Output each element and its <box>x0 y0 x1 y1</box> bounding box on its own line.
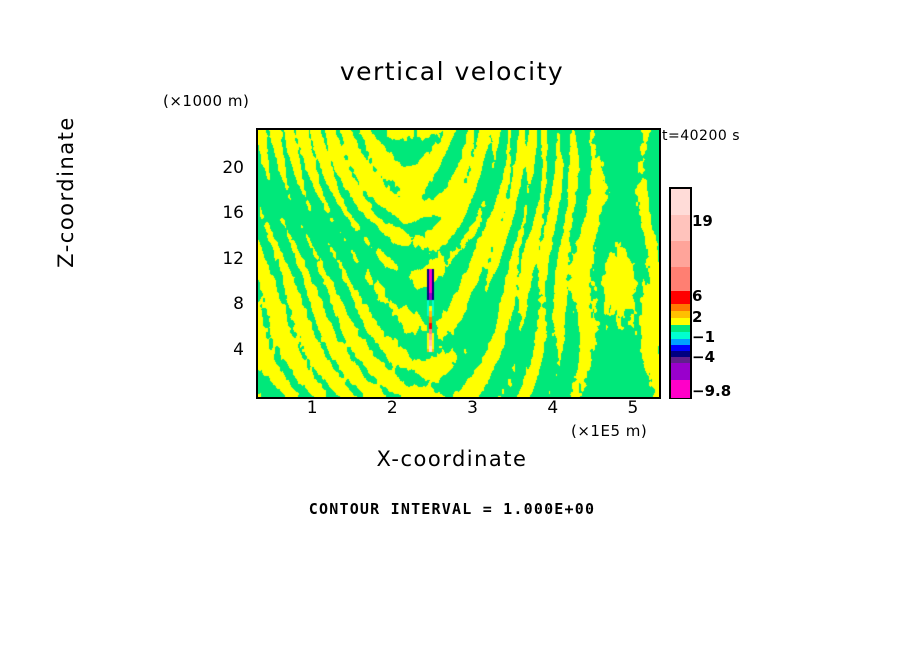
colorbar <box>669 187 692 399</box>
time-annotation: t=40200 s <box>662 128 740 144</box>
y-tick-label: 12 <box>204 249 244 269</box>
contour-plot-area <box>256 128 661 399</box>
y-axis-unit: (×1000 m) <box>163 92 249 110</box>
contour-field <box>258 130 659 397</box>
y-tick-label: 4 <box>204 340 244 360</box>
colorbar-segment <box>671 241 690 268</box>
x-tick-label: 3 <box>458 398 488 418</box>
x-tick-label: 5 <box>618 398 648 418</box>
colorbar-segment <box>671 291 690 305</box>
colorbar-tick-label: −9.8 <box>692 382 731 400</box>
y-tick-label: 20 <box>204 158 244 178</box>
contour-interval-caption: CONTOUR INTERVAL = 1.000E+00 <box>0 500 904 518</box>
colorbar-tick-label: 2 <box>692 308 702 326</box>
colorbar-segment <box>671 380 690 398</box>
x-axis-label: X-coordinate <box>0 447 904 471</box>
colorbar-tick-label: −1 <box>692 328 715 346</box>
colorbar-tick-label: 6 <box>692 287 702 305</box>
y-tick-label: 16 <box>204 203 244 223</box>
colorbar-segment <box>671 267 690 292</box>
colorbar-tick-label: 19 <box>692 212 713 230</box>
y-tick-label: 8 <box>204 294 244 314</box>
colorbar-segment <box>671 215 690 242</box>
colorbar-segment <box>671 363 690 381</box>
x-tick-label: 2 <box>377 398 407 418</box>
colorbar-tick-label: −4 <box>692 348 715 366</box>
x-tick-label: 4 <box>538 398 568 418</box>
colorbar-segment <box>671 189 690 216</box>
x-axis-unit: (×1E5 m) <box>571 422 647 440</box>
x-tick-label: 1 <box>297 398 327 418</box>
chart-title: vertical velocity <box>0 57 904 86</box>
y-axis-label: Z-coordinate <box>54 112 78 272</box>
